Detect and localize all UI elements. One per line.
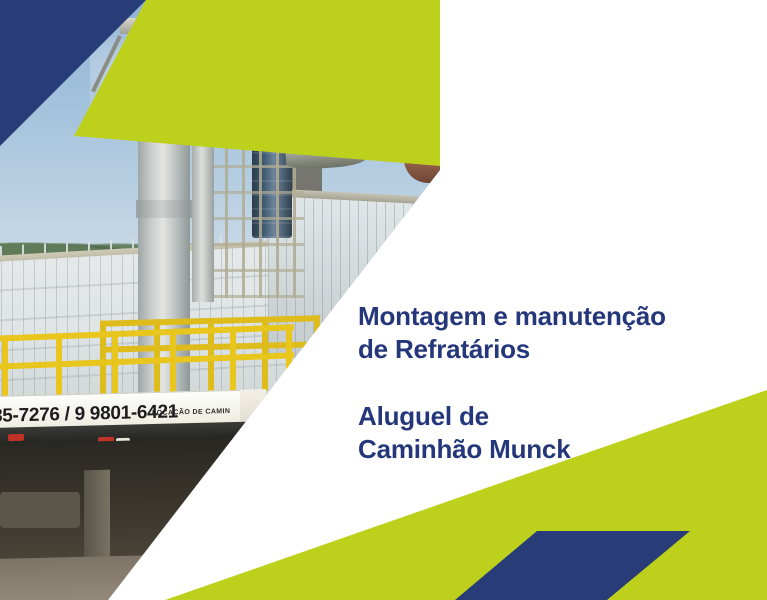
- headline-block-rental: Aluguel de Caminhão Munck: [358, 400, 688, 466]
- headline-line-3: Aluguel de: [358, 400, 688, 433]
- navy-parallelogram-bottom-right: [455, 531, 690, 600]
- photo-column-ring: [136, 200, 192, 218]
- headline: Montagem e manutenção de Refratários Alu…: [358, 300, 688, 466]
- headline-line-2: de Refratários: [358, 333, 688, 366]
- photo-truck-outrigger: [84, 470, 110, 567]
- headline-line-4: Caminhão Munck: [358, 433, 688, 466]
- photo-silo: [192, 62, 214, 302]
- headline-block-services: Montagem e manutenção de Refratários: [358, 300, 688, 366]
- photo-truck-axle: [0, 492, 80, 528]
- photo-pipe-rack: [208, 78, 304, 298]
- photo-ground: [0, 553, 250, 600]
- poster-canvas: 85-7276 / 9 9801-6421 LOCAÇÃO DE CAMIN M…: [0, 0, 767, 600]
- photo-mast: [330, 86, 333, 112]
- headline-line-1: Montagem e manutenção: [358, 300, 688, 333]
- photo-truck-lamp-left: [8, 434, 24, 441]
- photo-rusty-vessel-right: [404, 125, 460, 183]
